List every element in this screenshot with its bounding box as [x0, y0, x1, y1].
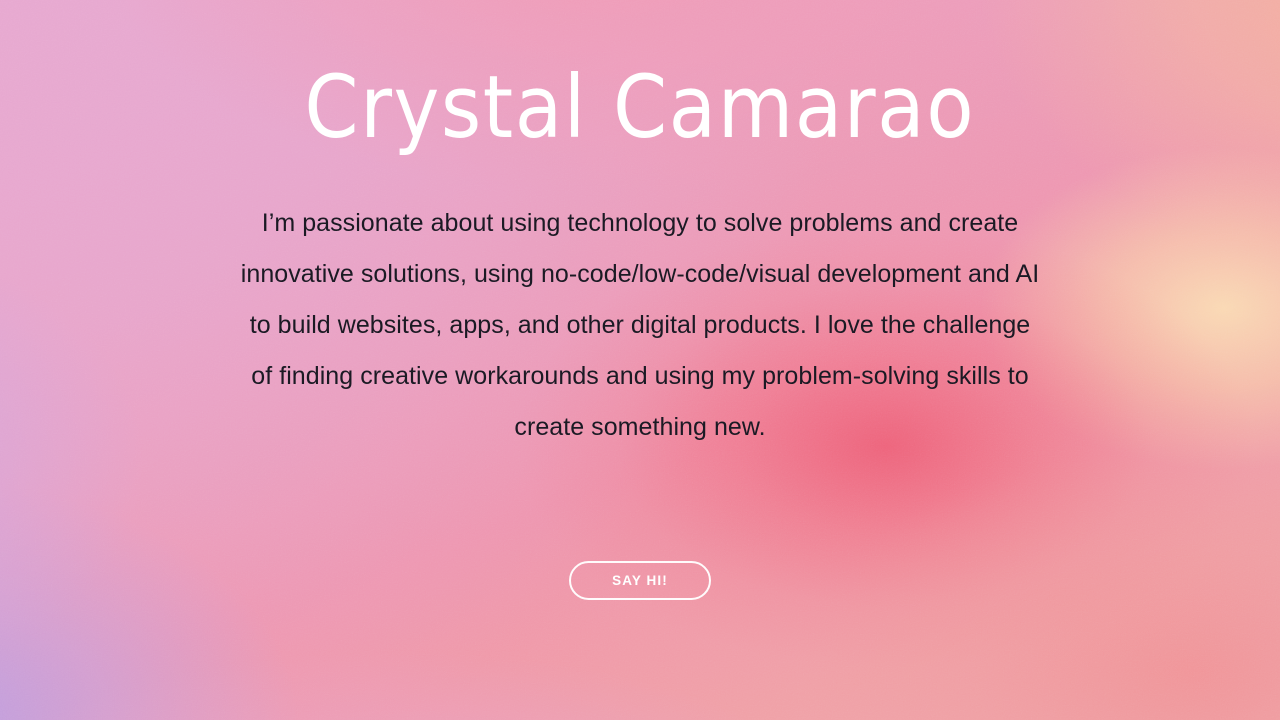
- page-title: Crystal Camarao: [305, 64, 976, 151]
- hero-content: Crystal Camarao I’m passionate about usi…: [0, 0, 1280, 720]
- hero-section: Crystal Camarao I’m passionate about usi…: [0, 0, 1280, 720]
- say-hi-button[interactable]: SAY HI!: [569, 561, 711, 600]
- intro-paragraph: I’m passionate about using technology to…: [240, 198, 1040, 453]
- cta-container: SAY HI!: [0, 561, 1280, 600]
